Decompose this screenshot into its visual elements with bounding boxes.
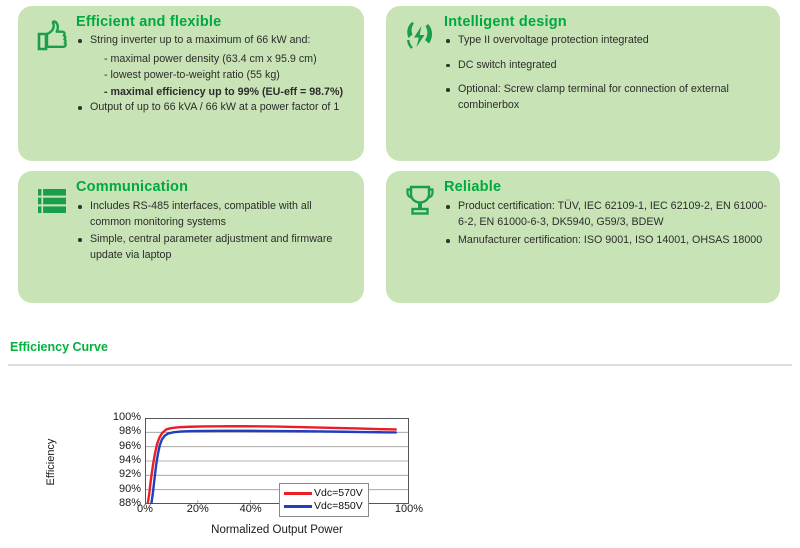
- card-bullet-list: Includes RS-485 interfaces, compatible w…: [76, 199, 354, 263]
- card-reliable: Reliable Product certification: TÜV, IEC…: [386, 171, 780, 303]
- y-tick-label: 100%: [105, 411, 141, 423]
- section-heading: Efficiency Curve: [10, 340, 108, 354]
- section-divider: [8, 364, 792, 366]
- card-body: Communication Includes RS-485 interfaces…: [76, 179, 354, 265]
- card-communication: Communication Includes RS-485 interfaces…: [18, 171, 364, 303]
- legend-label: Vdc=570V: [314, 487, 363, 500]
- card-body: Efficient and flexible String inverter u…: [76, 14, 354, 118]
- x-tick-label: 20%: [178, 503, 218, 515]
- card-bullet-list: Type II overvoltage protection integrate…: [444, 33, 770, 113]
- x-tick-label: 0%: [125, 503, 165, 515]
- list-item: Includes RS-485 interfaces, compatible w…: [76, 199, 354, 230]
- card-efficient-and-flexible: Efficient and flexible String inverter u…: [18, 6, 364, 161]
- y-tick-label: 90%: [105, 483, 141, 495]
- legend-item-0: Vdc=570V: [284, 487, 363, 500]
- y-axis-ticks: 88%90%92%94%96%98%100%: [101, 372, 141, 502]
- chart-legend: Vdc=570V Vdc=850V: [279, 483, 369, 517]
- y-tick-label: 92%: [105, 468, 141, 480]
- y-tick-label: 98%: [105, 425, 141, 437]
- efficiency-chart: Efficiency 88%90%92%94%96%98%100% 0%20%4…: [0, 372, 800, 548]
- x-axis-ticks: 0%20%40%60%80%100%: [0, 503, 800, 523]
- list-item: Type II overvoltage protection integrate…: [444, 33, 770, 49]
- lightning-bolt-icon: [400, 16, 440, 56]
- card-title: Reliable: [444, 179, 770, 195]
- card-title: Efficient and flexible: [76, 14, 354, 30]
- list-item: Product certification: TÜV, IEC 62109-1,…: [444, 199, 770, 230]
- card-title: Communication: [76, 179, 354, 195]
- trophy-icon: [400, 181, 440, 221]
- card-bullet-list: Product certification: TÜV, IEC 62109-1,…: [444, 199, 770, 249]
- list-item: Optional: Screw clamp terminal for conne…: [444, 82, 770, 113]
- legend-label: Vdc=850V: [314, 500, 363, 513]
- card-body: Intelligent design Type II overvoltage p…: [444, 14, 770, 122]
- list-item: DC switch integrated: [444, 58, 770, 74]
- x-tick-label: 100%: [389, 503, 429, 515]
- y-tick-label: 96%: [105, 440, 141, 452]
- legend-item-1: Vdc=850V: [284, 500, 363, 513]
- card-bullet-list: String inverter up to a maximum of 66 kW…: [76, 33, 354, 116]
- list-item: Output of up to 66 kVA / 66 kW at a powe…: [76, 100, 354, 116]
- list-subitem: - maximal power density (63.4 cm x 95.9 …: [90, 51, 354, 68]
- card-body: Reliable Product certification: TÜV, IEC…: [444, 179, 770, 252]
- card-title: Intelligent design: [444, 14, 770, 30]
- feature-cards: Efficient and flexible String inverter u…: [0, 0, 800, 322]
- plot-area: [145, 418, 409, 504]
- list-item: Manufacturer certification: ISO 9001, IS…: [444, 233, 770, 249]
- y-tick-label: 94%: [105, 454, 141, 466]
- legend-swatch-blue: [284, 505, 312, 508]
- server-stack-icon: [32, 181, 72, 221]
- x-axis-title: Normalized Output Power: [145, 524, 409, 536]
- legend-swatch-red: [284, 492, 312, 495]
- thumbs-up-icon: [32, 16, 72, 56]
- list-subitem-bold: - maximal efficiency up to 99% (EU-eff =…: [90, 84, 354, 101]
- list-item: Simple, central parameter adjustment and…: [76, 232, 354, 263]
- datasheet-page: Efficient and flexible String inverter u…: [0, 0, 800, 548]
- efficiency-curve-section: Efficiency Curve Efficiency 88%90%92%94%…: [0, 330, 800, 548]
- x-tick-label: 40%: [231, 503, 271, 515]
- list-item: String inverter up to a maximum of 66 kW…: [76, 33, 354, 49]
- card-intelligent-design: Intelligent design Type II overvoltage p…: [386, 6, 780, 161]
- list-subitem: - lowest power-to-weight ratio (55 kg): [90, 67, 354, 84]
